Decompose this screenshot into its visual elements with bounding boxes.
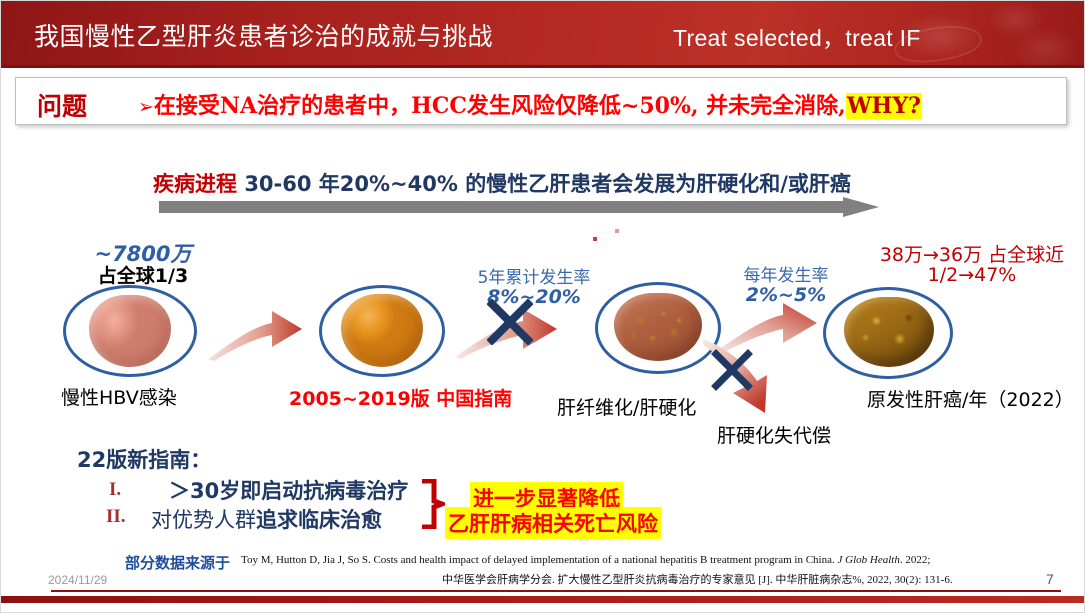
progression-arrow-icon [159,197,879,217]
stage4-stat-line2: 1/2→47% [859,264,1085,286]
stage3-caption: 肝纤维化/肝硬化 [557,393,696,420]
question-why-highlight: WHY? [846,93,922,119]
question-body: 在接受NA治疗的患者中，HCC发生风险仅降低~50%, 并未完全消除, [154,93,846,119]
progression-blue-label: 30-60 年20%~40% 的慢性乙肝患者会发展为肝硬化和/或肝癌 [244,172,851,196]
bullet-arrow-icon: ➢ [138,96,154,118]
footer-ref1-journal: J Glob Health [838,554,900,566]
footer-ref1-b: . 2022; [900,554,931,566]
transition-2-blocked-x-icon [711,349,753,391]
progression-banner-text: 疾病进程 30-60 年20%~40% 的慢性乙肝患者会发展为肝硬化和/或肝癌 [153,168,851,198]
footer-thin-rule [51,590,1061,592]
slide-root: 我国慢性乙型肝炎患者诊治的成就与挑战 Treat selected，treat … [0,0,1085,613]
transition-1-blocked-x-icon [487,299,533,345]
footer-page-number: 7 [1046,571,1054,587]
progression-red-label: 疾病进程 [153,172,237,196]
header-divider [1,65,1085,68]
footer-reference-2: 中华医学会肝病学分会. 扩大慢性乙型肝炎抗病毒治疗的专家意见 [J]. 中华肝脏… [442,571,953,587]
question-bar: 问题 ➢在接受NA治疗的患者中，HCC发生风险仅降低~50%, 并未完全消除,W… [15,77,1067,125]
transition-1-label: 5年累计发生率 [454,263,614,288]
outcome-line-2: 乙肝肝病相关死亡风险 [445,507,661,539]
stage1-caption: 慢性HBV感染 [61,383,177,410]
outcome-brace-icon [419,479,445,529]
page-title: 我国慢性乙型肝炎患者诊治的成就与挑战 [34,17,493,53]
footer-reference-1: Toy M, Hutton D, Jia J, So S. Costs and … [241,554,930,566]
footer-source-label: 部分数据来源于 [125,552,230,573]
guideline-item-2-numeral: II. [106,506,126,528]
guideline-item-1-prefix: ＞30岁 [169,479,240,503]
decompensation-caption: 肝硬化失代偿 [717,421,831,448]
new-guideline-title: 22版新指南： [77,444,211,474]
footer-ref1-a: Toy M, Hutton D, Jia J, So S. Costs and … [241,554,838,566]
artifact-dot [615,229,619,233]
question-text: ➢在接受NA治疗的患者中，HCC发生风险仅降低~50%, 并未完全消除,WHY? [138,88,922,120]
stage1-stat-line2: 占全球1/3 [63,261,223,288]
guideline-item-2-bold: 追求临床治愈 [256,508,382,532]
stage2-caption: 2005~2019版 中国指南 [289,384,512,411]
guideline-item-1-numeral: I. [109,479,121,501]
artifact-dot [593,237,597,241]
footer-date: 2024/11/29 [48,573,107,587]
footer-accent-bar [1,596,1085,603]
transition-2-label: 每年发生率 [711,261,861,286]
header-subtitle: Treat selected，treat IF [673,19,921,53]
stage4-stat-line1: 38万→36万 占全球近 [859,240,1085,267]
guideline-item-1-bold: 即启动抗病毒治疗 [240,479,408,503]
guideline-item-2: 对优势人群追求临床治愈 [151,504,382,534]
slide-header: 我国慢性乙型肝炎患者诊治的成就与挑战 Treat selected，treat … [1,1,1085,67]
question-label: 问题 [37,87,87,123]
guideline-item-2-prefix: 对优势人群 [151,508,256,532]
guideline-item-1: ＞30岁即启动抗病毒治疗 [169,475,408,505]
transition-arrow-1-icon [206,301,306,363]
stage4-caption: 原发性肝癌/年（2022） [867,385,1074,412]
